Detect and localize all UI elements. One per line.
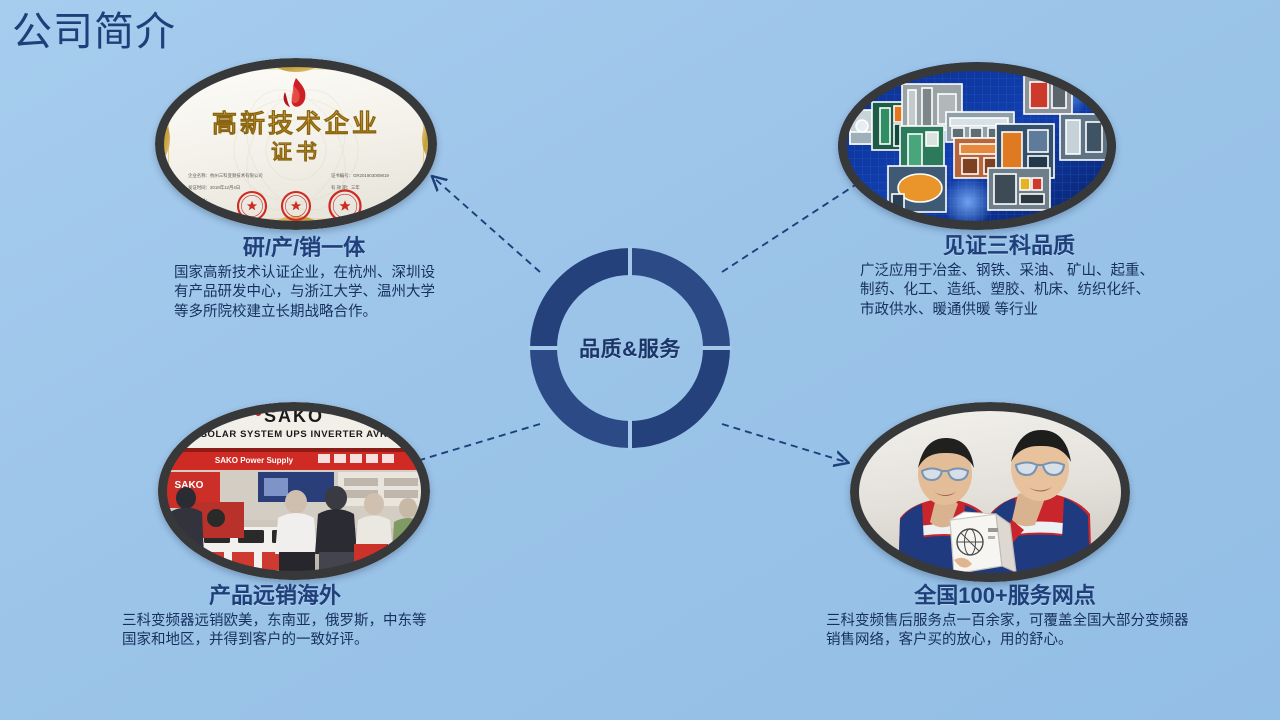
quadrant-bottom-left-heading: 产品远销海外 <box>110 582 440 610</box>
connector-to-top-right <box>722 178 866 272</box>
svg-text:高新技术企业: 高新技术企业 <box>212 109 380 138</box>
svg-text:证书: 证书 <box>271 141 321 164</box>
slide-canvas: 公司简介 <box>0 0 1280 720</box>
team-image-inner <box>850 402 1130 582</box>
quadrant-top-left-heading: 研/产/销一体 <box>160 234 448 262</box>
connector-to-bottom-right <box>722 424 846 462</box>
quadrant-bottom-left: 产品远销海外 三科变频器远销欧美，东南亚，俄罗斯，中东等国家和地区，并得到客户的… <box>110 582 440 651</box>
center-hub[interactable]: 品质&服务 <box>524 242 736 454</box>
page-title: 公司简介 <box>12 8 176 56</box>
svg-text:企业名称：杭州三科变频技术有限公司: 企业名称：杭州三科变频技术有限公司 <box>188 172 263 179</box>
quadrant-bottom-right-body: 三科变频售后服务点一百余家，可覆盖全国大部分变频器销售网络，客户买的放心，用的舒… <box>820 612 1190 651</box>
svg-text:批准机关：: 批准机关： <box>188 197 210 204</box>
image-service-technicians-photo[interactable] <box>850 402 1130 582</box>
applications-image-inner <box>838 62 1116 230</box>
quadrant-top-right-heading: 见证三科品质 <box>854 232 1164 260</box>
quadrant-top-left: 研/产/销一体 国家高新技术认证企业，在杭州、深圳设有产品研发中心，与浙江大学、… <box>160 234 448 322</box>
certificate-image-inner: 高新技术企业 证书 企业名称：杭州三科变频技术有限公司 证书编号：GR20190… <box>155 58 437 230</box>
image-industrial-applications-collage[interactable] <box>838 62 1116 230</box>
quadrant-bottom-left-body: 三科变频器远销欧美，东南亚，俄罗斯，中东等国家和地区，并得到客户的一致好评。 <box>110 612 440 651</box>
svg-text:SAKO Power Supply: SAKO Power Supply <box>215 456 294 465</box>
svg-text:证书编号：GR201903009819: 证书编号：GR201903009819 <box>331 172 389 179</box>
hub-label: 品质&服务 <box>524 242 736 454</box>
quadrant-top-left-body: 国家高新技术认证企业，在杭州、深圳设有产品研发中心，与浙江大学、温州大学等多所院… <box>160 264 448 323</box>
quadrant-top-right: 见证三科品质 广泛应用于冶金、钢铁、采油、 矿山、起重、制药、化工、造纸、塑胶、… <box>854 232 1164 320</box>
quadrant-bottom-right-heading: 全国100+服务网点 <box>820 582 1190 610</box>
quadrant-bottom-right: 全国100+服务网点 三科变频售后服务点一百余家，可覆盖全国大部分变频器销售网络… <box>820 582 1190 651</box>
image-trade-show-booth-photo[interactable]: SAKO SOLAR SYSTEM UPS INVERTER AVR SAKO … <box>158 402 430 580</box>
svg-text:SOLAR SYSTEM UPS INVERTER AVR: SOLAR SYSTEM UPS INVERTER AVR <box>201 429 388 440</box>
svg-text:SAKO: SAKO <box>264 406 324 426</box>
image-high-tech-enterprise-certificate[interactable]: 高新技术企业 证书 企业名称：杭州三科变频技术有限公司 证书编号：GR20190… <box>155 58 437 230</box>
svg-text:发证时间：2019年12月4日: 发证时间：2019年12月4日 <box>188 184 240 191</box>
quadrant-top-right-body: 广泛应用于冶金、钢铁、采油、 矿山、起重、制药、化工、造纸、塑胶、机床、纺织化纤… <box>854 262 1164 321</box>
expo-image-inner: SAKO SOLAR SYSTEM UPS INVERTER AVR SAKO … <box>158 402 430 580</box>
